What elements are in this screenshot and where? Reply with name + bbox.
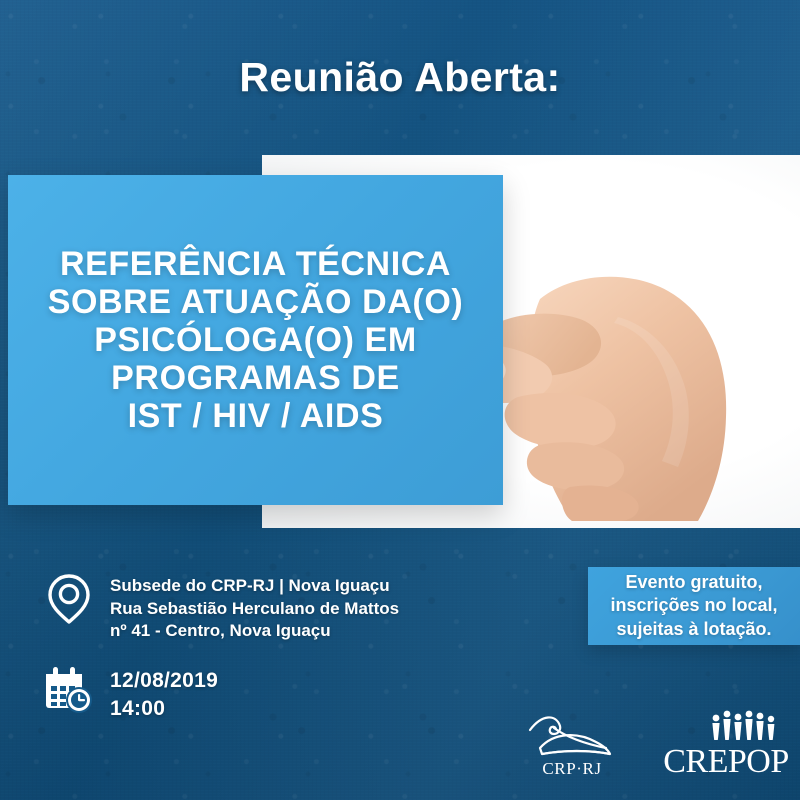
schedule-text: 12/08/2019 14:00 bbox=[110, 661, 218, 722]
main-title-line-2: SOBRE ATUAÇÃO DA(O) bbox=[16, 283, 495, 321]
logo-group: CRP·RJ bbox=[520, 706, 800, 782]
event-time: 14:00 bbox=[110, 695, 218, 723]
location-line-2: Rua Sebastião Herculano de Mattos bbox=[110, 598, 399, 621]
badge-line-1: Evento gratuito, bbox=[610, 571, 777, 594]
main-title-line-3: PSICÓLOGA(O) EM bbox=[16, 321, 495, 359]
status-badge: Evento gratuito, inscrições no local, su… bbox=[588, 567, 800, 645]
main-title-line-1: REFERÊNCIA TÉCNICA bbox=[16, 245, 495, 283]
badge-line-3: sujeitas à lotação. bbox=[610, 618, 777, 641]
main-title-line-5: IST / HIV / AIDS bbox=[16, 397, 495, 435]
badge-text: Evento gratuito, inscrições no local, su… bbox=[610, 571, 777, 641]
event-date: 12/08/2019 bbox=[110, 667, 218, 695]
event-poster: Reunião Aberta: bbox=[0, 0, 800, 800]
schedule-row: 12/08/2019 14:00 bbox=[42, 661, 399, 722]
location-row: Subsede do CRP-RJ | Nova Iguaçu Rua Seba… bbox=[42, 570, 399, 643]
crp-rj-logo-text: CRP·RJ bbox=[542, 759, 601, 778]
crp-rj-logo: CRP·RJ bbox=[520, 708, 624, 780]
page-title: Reunião Aberta: bbox=[0, 54, 800, 101]
badge-line-2: inscrições no local, bbox=[610, 594, 777, 617]
location-line-3: nº 41 - Centro, Nova Iguaçu bbox=[110, 620, 399, 643]
map-pin-icon bbox=[42, 570, 96, 628]
event-details: Subsede do CRP-RJ | Nova Iguaçu Rua Seba… bbox=[42, 570, 399, 740]
crepop-logo-text: CREPOP bbox=[663, 743, 789, 780]
calendar-clock-icon bbox=[42, 661, 96, 719]
main-title-line-4: PROGRAMAS DE bbox=[16, 359, 495, 397]
location-line-1: Subsede do CRP-RJ | Nova Iguaçu bbox=[110, 575, 399, 598]
location-text: Subsede do CRP-RJ | Nova Iguaçu Rua Seba… bbox=[110, 570, 399, 643]
crepop-logo: CREPOP bbox=[660, 708, 792, 780]
main-title: REFERÊNCIA TÉCNICA SOBRE ATUAÇÃO DA(O) P… bbox=[8, 245, 503, 435]
main-title-box: REFERÊNCIA TÉCNICA SOBRE ATUAÇÃO DA(O) P… bbox=[8, 175, 503, 505]
